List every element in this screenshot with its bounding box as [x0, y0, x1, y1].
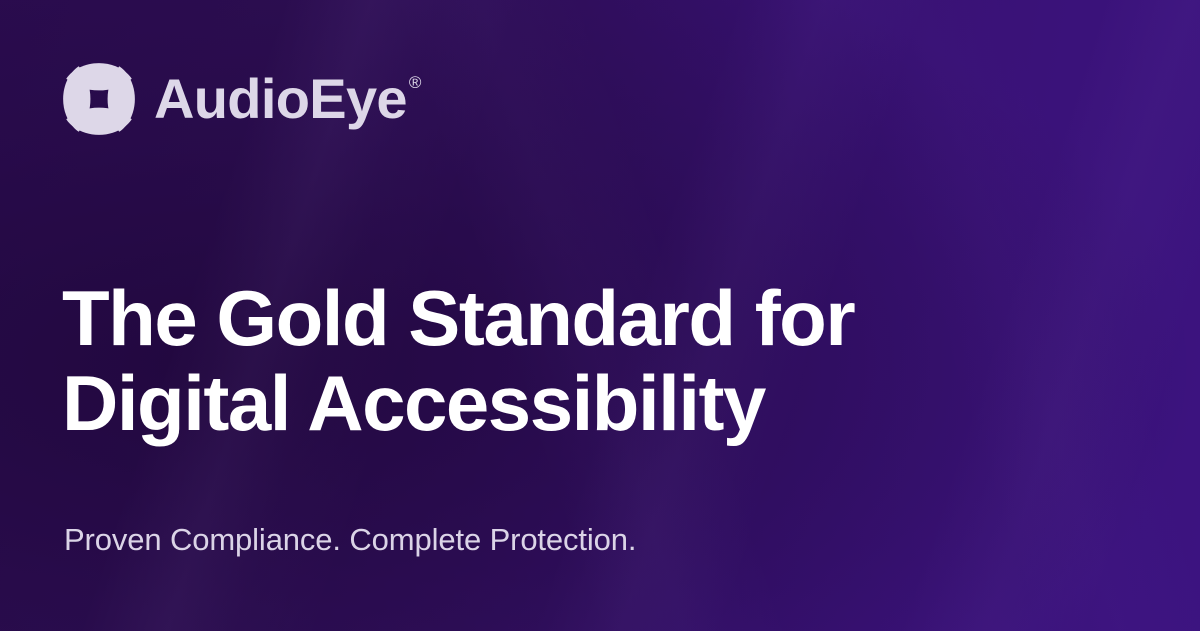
audioeye-circle-lens-mark-icon	[60, 60, 138, 138]
registered-trademark-symbol: ®	[409, 74, 422, 91]
audioeye-wordmark: AudioEye	[154, 71, 407, 127]
audioeye-logo-lockup[interactable]: AudioEye ®	[60, 60, 421, 138]
headline: The Gold Standard for Digital Accessibil…	[62, 276, 854, 445]
subtitle: Proven Compliance. Complete Protection.	[64, 521, 636, 560]
promo-banner: AudioEye ® The Gold Standard for Digital…	[0, 0, 1200, 631]
audioeye-wordmark-wrap: AudioEye ®	[154, 71, 421, 127]
headline-line-2: Digital Accessibility	[62, 361, 854, 446]
headline-line-1: The Gold Standard for	[62, 276, 854, 361]
banner-content: AudioEye ® The Gold Standard for Digital…	[0, 0, 1200, 631]
